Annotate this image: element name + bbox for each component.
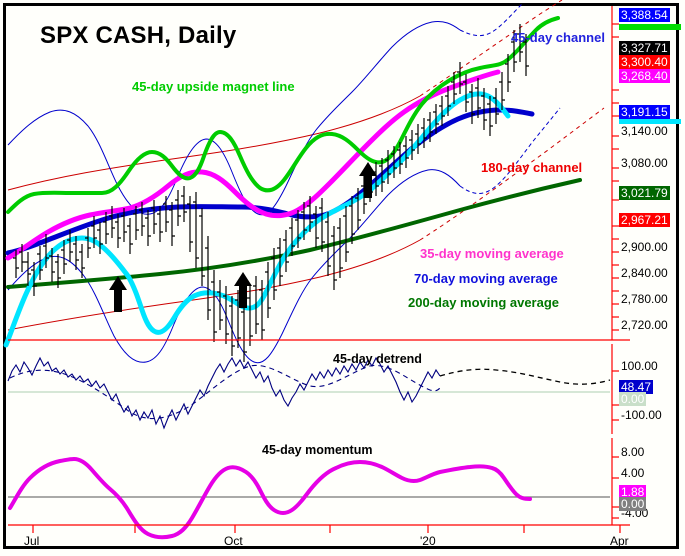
price-tick-label: 3,080.00 xyxy=(621,156,668,170)
annotation-ma-35: 35-day moving average xyxy=(420,246,564,261)
detrend-tick-label: 100.00 xyxy=(621,359,658,373)
panel-title-detrend: 45-day detrend xyxy=(333,352,422,366)
price-tag-green: 3,021.79 xyxy=(619,186,670,200)
panel-title-momentum: 45-day momentum xyxy=(262,443,372,457)
annotation-ma-200: 200-day moving average xyxy=(408,295,559,310)
price-tag-last: 3,327.71 xyxy=(619,41,670,55)
detrend-panel xyxy=(8,358,610,428)
x-axis-label-20: '20 xyxy=(420,534,436,548)
detrend-tick-label: -100.00 xyxy=(621,408,662,422)
ma-70-line xyxy=(8,110,532,253)
price-axis-ticks xyxy=(612,24,619,330)
price-tag-magenta: 3,268.40 xyxy=(619,69,670,83)
chart-screenshot: SPX CASH, Daily 45-day upside magnet lin… xyxy=(0,0,685,556)
momentum-zero-tag: 0.00 xyxy=(619,497,646,511)
price-tag-red: 3,300.40 xyxy=(619,55,670,69)
price-tick-label: 2,900.00 xyxy=(621,240,668,254)
price-tag-magnet-marker xyxy=(619,24,681,30)
momentum-tick-label: 8.00 xyxy=(621,445,644,459)
x-axis-label-oct: Oct xyxy=(224,534,243,548)
annotation-180-day-channel: 180-day channel xyxy=(481,160,582,175)
x-axis-label-apr: Apr xyxy=(610,534,629,548)
chart-canvas xyxy=(0,0,685,556)
indicator-axis-ticks xyxy=(612,371,619,518)
price-tag-red-lower: 2,967.21 xyxy=(619,213,670,227)
price-tick-label: 3,140.00 xyxy=(621,124,668,138)
momentum-tick-label: 4.00 xyxy=(621,466,644,480)
price-tick-label: 2,720.00 xyxy=(621,318,668,332)
channel-45-lower-projection xyxy=(460,108,560,194)
price-tick-label: 2,780.00 xyxy=(621,292,668,306)
x-axis-label-jul: Jul xyxy=(24,534,39,548)
annotation-magnet-line: 45-day upside magnet line xyxy=(132,79,295,94)
x-axis-ticks xyxy=(33,525,620,533)
buy-arrow xyxy=(109,276,127,312)
price-tag-blue: 3,191.15 xyxy=(619,105,670,119)
annotation-ma-70: 70-day moving average xyxy=(414,271,558,286)
price-tag-cycle-marker xyxy=(619,119,681,124)
channel-180-upper-projection xyxy=(420,0,562,96)
detrend-zero-tag: 0.00 xyxy=(619,392,646,406)
buy-arrows xyxy=(109,162,377,312)
detrend-forecast-line xyxy=(440,369,610,384)
detrend-line xyxy=(8,358,440,428)
annotation-45-day-channel: 45-day channel xyxy=(511,30,605,45)
price-tick-label: 2,840.00 xyxy=(621,266,668,280)
page-title: SPX CASH, Daily xyxy=(40,22,236,50)
price-tag-high: 3,388.54 xyxy=(619,8,670,22)
